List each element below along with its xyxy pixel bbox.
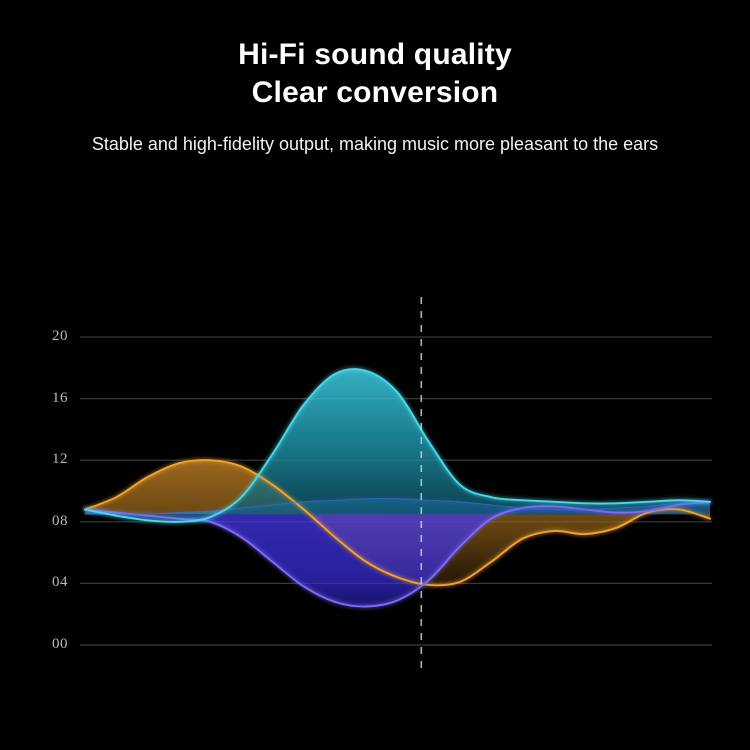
audio-waveform-chart: 000408121620	[0, 0, 750, 750]
y-axis-tick-label: 00	[34, 636, 68, 653]
y-axis-tick-label: 16	[34, 390, 68, 407]
y-axis-tick-label: 12	[34, 451, 68, 468]
y-axis-tick-label: 08	[34, 513, 68, 530]
poster-root: Hi-Fi sound quality Clear conversion Sta…	[0, 0, 750, 750]
y-axis-tick-label: 04	[34, 574, 68, 591]
y-axis-tick-label: 20	[34, 328, 68, 345]
waveform-plot-svg	[0, 0, 750, 750]
chart-area-fills	[85, 369, 710, 607]
